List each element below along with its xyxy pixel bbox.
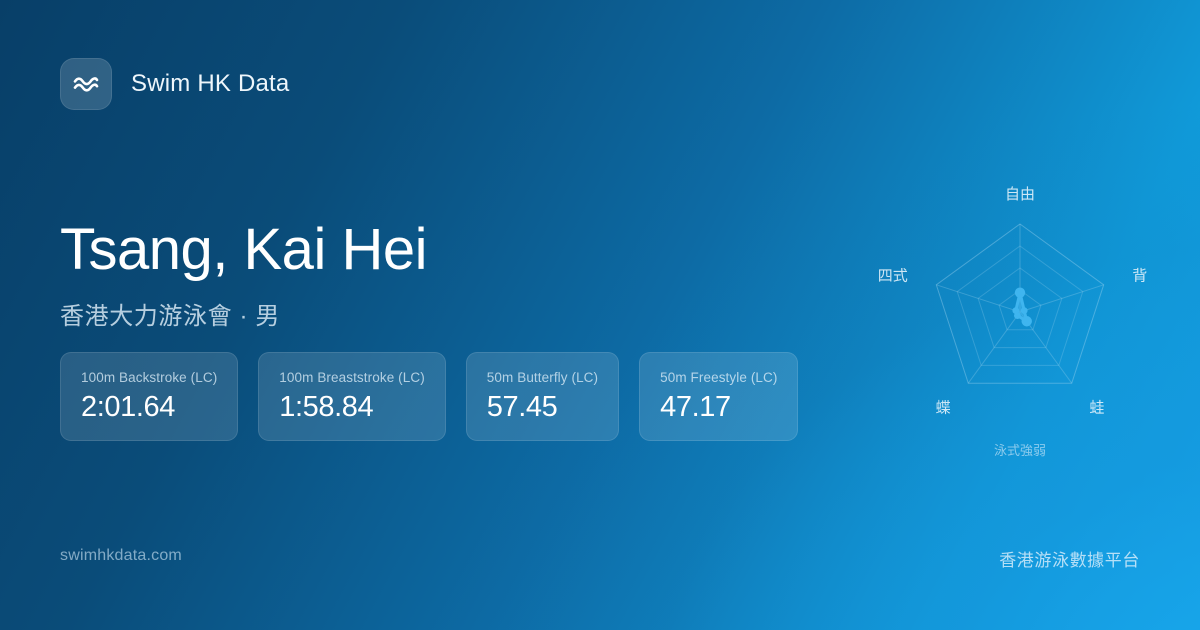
page-title: Tsang, Kai Hei	[60, 218, 427, 283]
stat-value: 57.45	[487, 391, 598, 424]
stat-card: 50m Freestyle (LC) 47.17	[639, 352, 798, 441]
radar-axis-label: 四式	[878, 268, 908, 285]
radar-spoke	[1020, 285, 1104, 312]
stat-value: 2:01.64	[81, 391, 217, 424]
headline-block: Tsang, Kai Hei 香港大力游泳會 · 男	[60, 218, 427, 331]
wave-icon	[72, 74, 100, 94]
stat-card: 50m Butterfly (LC) 57.45	[466, 352, 619, 441]
stat-card: 100m Backstroke (LC) 2:01.64	[60, 352, 238, 441]
radar-axis-labels: 自由背蛙蝶四式	[878, 186, 1147, 417]
footer-tagline: 香港游泳數據平台	[999, 546, 1140, 571]
footer-site-url: swimhkdata.com	[60, 547, 182, 565]
stroke-radar-chart: 自由背蛙蝶四式 泳式強弱	[860, 160, 1180, 480]
brand-name: Swim HK Data	[131, 70, 289, 98]
radar-axis-label: 蛙	[1089, 400, 1104, 417]
radar-axis-label: 背	[1132, 268, 1147, 285]
radar-spoke	[936, 285, 1020, 312]
stat-label: 100m Backstroke (LC)	[81, 370, 217, 385]
radar-axis-label: 自由	[1005, 186, 1035, 203]
athlete-meta: 香港大力游泳會 · 男	[60, 296, 427, 331]
radar-axis-label: 蝶	[936, 400, 951, 417]
stat-label: 50m Butterfly (LC)	[487, 370, 598, 385]
radar-data-point	[1012, 307, 1019, 314]
brand-header: Swim HK Data	[60, 58, 289, 110]
radar-data-point	[1015, 287, 1025, 297]
stat-value: 1:58.84	[279, 391, 425, 424]
stat-label: 50m Freestyle (LC)	[660, 370, 777, 385]
radar-series-polygon	[1012, 287, 1032, 326]
share-card: Swim HK Data Tsang, Kai Hei 香港大力游泳會 · 男 …	[0, 0, 1200, 630]
stat-card-list: 100m Backstroke (LC) 2:01.64 100m Breast…	[60, 352, 798, 441]
stat-card: 100m Breaststroke (LC) 1:58.84	[258, 352, 446, 441]
stat-label: 100m Breaststroke (LC)	[279, 370, 425, 385]
radar-data-point	[1022, 316, 1032, 326]
radar-data-point	[1021, 307, 1028, 314]
radar-caption: 泳式強弱	[994, 443, 1046, 458]
app-logo	[60, 58, 112, 110]
stat-value: 47.17	[660, 391, 777, 424]
